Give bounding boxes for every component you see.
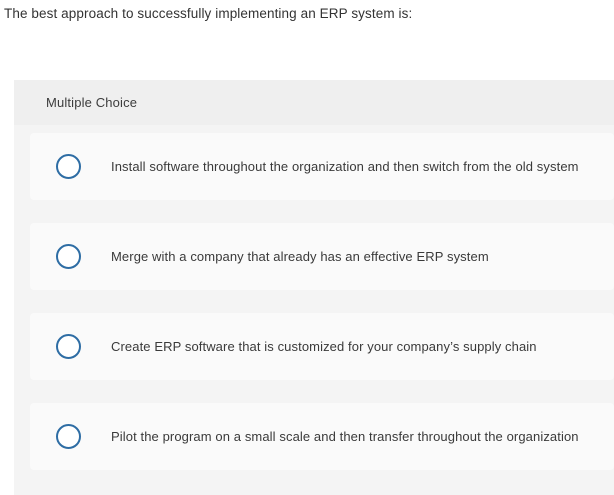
radio-button-icon[interactable] bbox=[56, 424, 81, 449]
option-label: Create ERP software that is customized f… bbox=[111, 338, 537, 356]
option-label: Merge with a company that already has an… bbox=[111, 248, 489, 266]
options-list: Install software throughout the organiza… bbox=[14, 125, 614, 470]
radio-button-icon[interactable] bbox=[56, 154, 81, 179]
answer-panel-header: Multiple Choice bbox=[14, 80, 614, 125]
question-type-label: Multiple Choice bbox=[46, 95, 137, 110]
answer-panel: Multiple Choice Install software through… bbox=[14, 80, 614, 495]
option-row[interactable]: Merge with a company that already has an… bbox=[30, 223, 614, 290]
option-row[interactable]: Install software throughout the organiza… bbox=[30, 133, 614, 200]
question-stem: The best approach to successfully implem… bbox=[4, 5, 604, 23]
radio-button-icon[interactable] bbox=[56, 334, 81, 359]
option-label: Pilot the program on a small scale and t… bbox=[111, 428, 579, 446]
option-label: Install software throughout the organiza… bbox=[111, 158, 579, 176]
option-row[interactable]: Create ERP software that is customized f… bbox=[30, 313, 614, 380]
radio-button-icon[interactable] bbox=[56, 244, 81, 269]
option-row[interactable]: Pilot the program on a small scale and t… bbox=[30, 403, 614, 470]
